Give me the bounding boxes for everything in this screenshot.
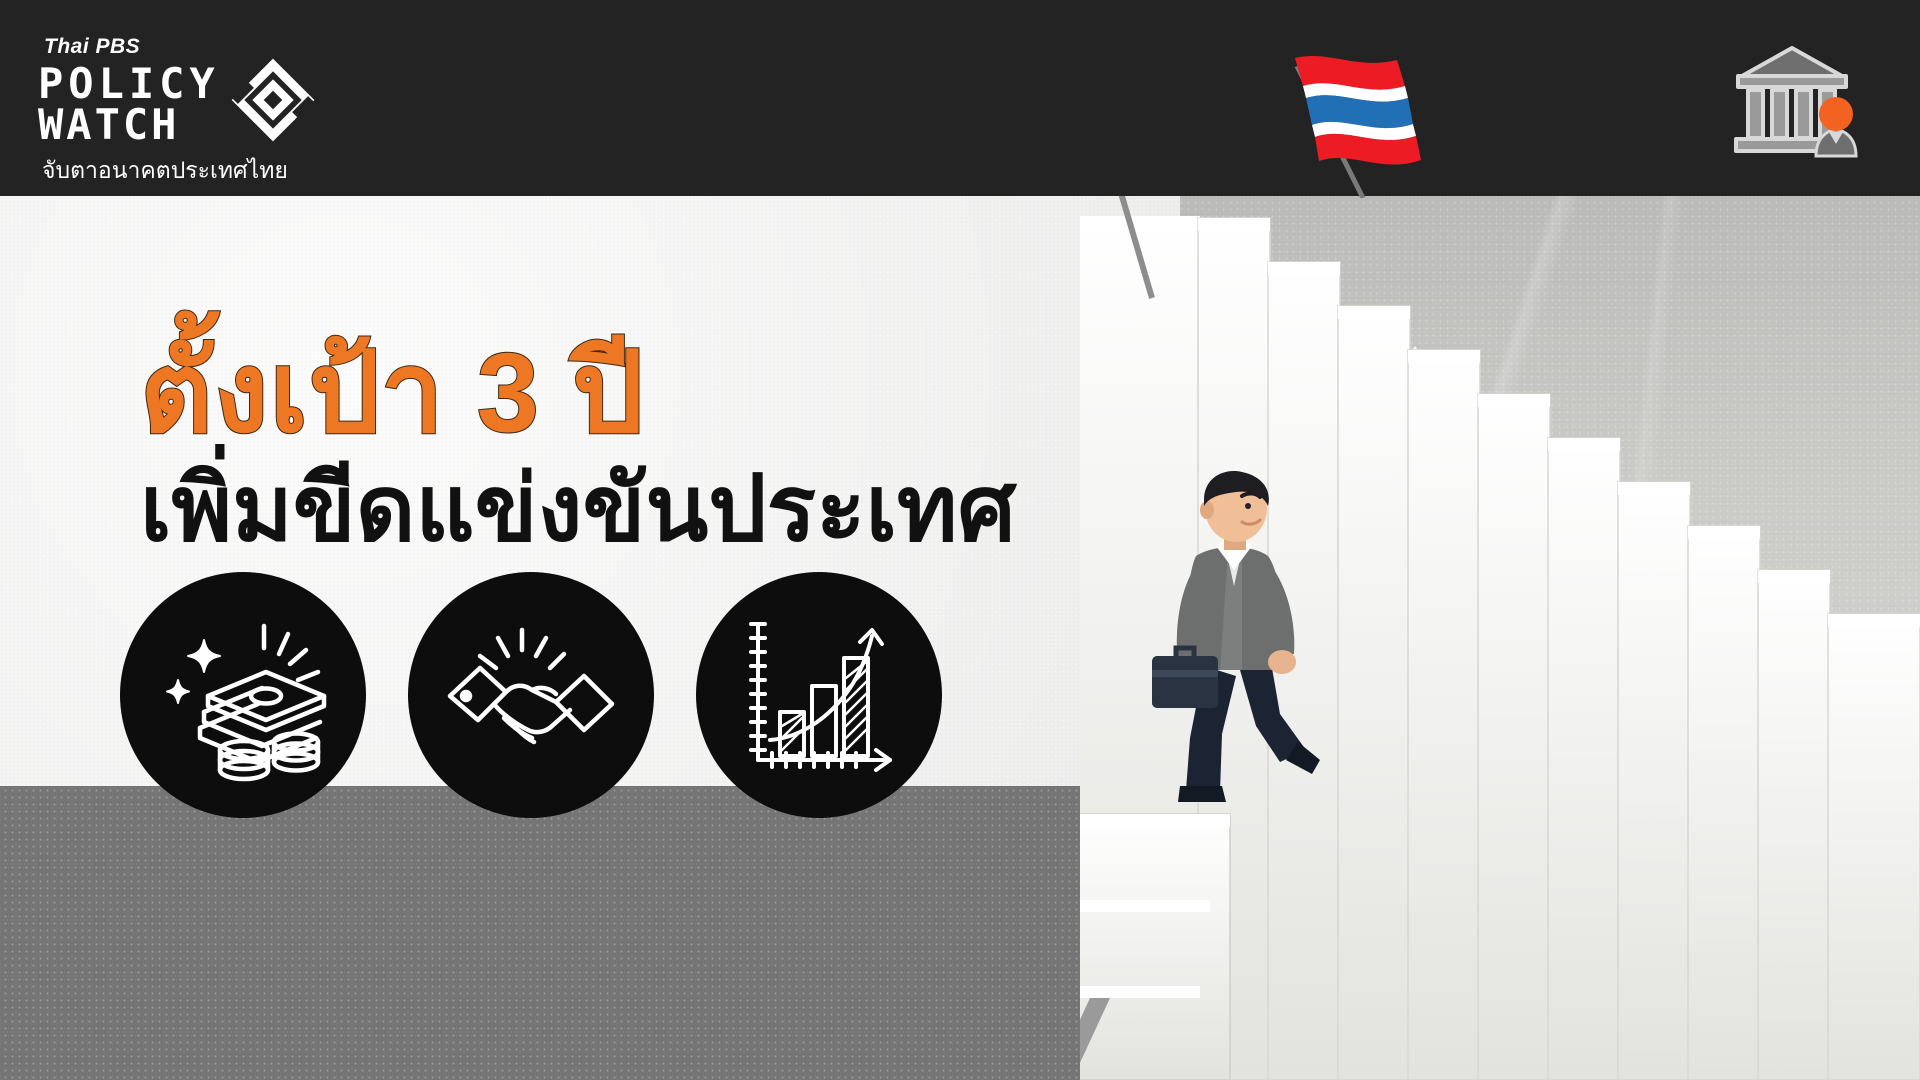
money-cash-icon[interactable] bbox=[120, 572, 366, 818]
headline-line-2: เพิ่มขีดแข่งขันประเทศ bbox=[140, 457, 1016, 563]
brand-name-watch: WATCH bbox=[38, 105, 220, 145]
headline-block: ตั้งเป้า 3 ปี เพิ่มขีดแข่งขันประเทศ bbox=[140, 330, 1016, 563]
government-bank-icon bbox=[1730, 40, 1860, 165]
headline-line-1: ตั้งเป้า 3 ปี bbox=[140, 330, 1016, 455]
brand-name-policy: POLICY bbox=[38, 64, 220, 104]
briefcase-icon bbox=[1152, 648, 1218, 708]
header-bar: Thai PBS POLICY WATCH bbox=[0, 0, 1920, 196]
brand-tagline: จับตาอนาคตประเทศไทย bbox=[42, 153, 328, 189]
diamond-logo-icon bbox=[230, 57, 316, 148]
thai-flag-icon bbox=[1285, 48, 1435, 203]
businessman-climbing-icon bbox=[1130, 470, 1350, 815]
brand-logo[interactable]: Thai PBS POLICY WATCH bbox=[38, 36, 328, 166]
icon-row bbox=[120, 572, 942, 818]
infographic-canvas: Thai PBS POLICY WATCH bbox=[0, 0, 1920, 1080]
network-name: Thai PBS bbox=[44, 36, 328, 57]
handshake-icon[interactable] bbox=[408, 572, 654, 818]
growth-chart-icon[interactable] bbox=[696, 572, 942, 818]
